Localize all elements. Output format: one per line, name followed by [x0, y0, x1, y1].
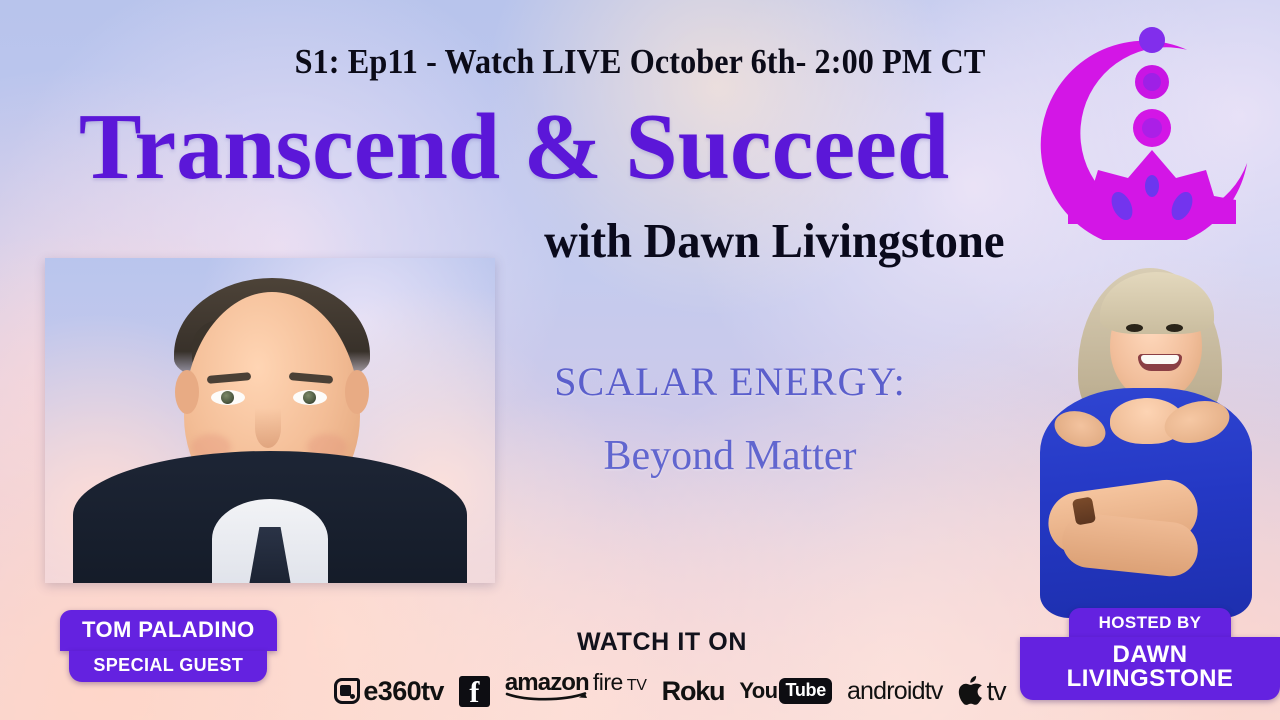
e360tv-camera-icon [334, 678, 360, 704]
host-wristwatch [1072, 496, 1096, 525]
roku-wordmark: Roku [662, 676, 725, 707]
episode-topic-title: SCALAR ENERGY: [330, 358, 1130, 405]
apple-tv-wordmark: tv [987, 676, 1006, 707]
e360tv-wordmark: e360tv [363, 676, 443, 707]
platform-logo-roku[interactable]: Roku [662, 671, 725, 711]
guest-eye-right [293, 390, 327, 405]
host-name-badge-group: HOSTED BY DAWN LIVINGSTONE [1020, 608, 1280, 700]
youtube-tube-icon: Tube [779, 678, 831, 704]
guest-eye-left [211, 390, 245, 405]
show-title: Transcend & Succeed [14, 100, 1014, 194]
watch-it-on-heading: WATCH IT ON [452, 628, 872, 657]
guest-role-badge: SPECIAL GUEST [69, 651, 267, 682]
host-eye-right [1166, 324, 1183, 332]
fire-wordmark: fire [593, 671, 623, 694]
guest-ear-left [175, 370, 199, 414]
guest-name-badge: TOM PALADINO [60, 610, 277, 651]
youtube-you-wordmark: You [739, 678, 777, 704]
guest-photo [45, 258, 495, 583]
tv-wordmark: TV [627, 678, 647, 694]
platform-logo-e360tv[interactable]: e360tv [334, 671, 443, 711]
platform-logo-androidtv[interactable]: androidtv [847, 671, 943, 711]
apple-logo-icon [958, 676, 983, 706]
facebook-icon: f [459, 676, 490, 707]
host-eye-left [1126, 324, 1143, 332]
platform-logo-facebook[interactable]: f [459, 671, 490, 711]
androidtv-wordmark: androidtv [847, 677, 943, 706]
facebook-f-glyph: f [469, 679, 479, 707]
platform-logo-strip: e360tv f amazon fire TV Roku You Tube [310, 668, 1030, 714]
platform-logo-youtube[interactable]: You Tube [739, 671, 832, 711]
platform-logo-apple-tv[interactable]: tv [958, 671, 1006, 711]
promo-graphic: S1: Ep11 - Watch LIVE October 6th- 2:00 … [0, 0, 1280, 720]
platform-logo-amazon-fire-tv[interactable]: amazon fire TV [505, 671, 647, 711]
host-role-badge: HOSTED BY [1069, 608, 1232, 637]
host-name-badge: DAWN LIVINGSTONE [1020, 637, 1280, 700]
host-mouth [1138, 354, 1182, 371]
guest-nose [255, 408, 281, 448]
amazon-smile-icon [505, 692, 591, 701]
episode-topic-subtitle: Beyond Matter [330, 432, 1130, 480]
crescent-moon-lotus-logo [1030, 10, 1270, 240]
guest-name-badge-group: TOM PALADINO SPECIAL GUEST [60, 610, 277, 682]
